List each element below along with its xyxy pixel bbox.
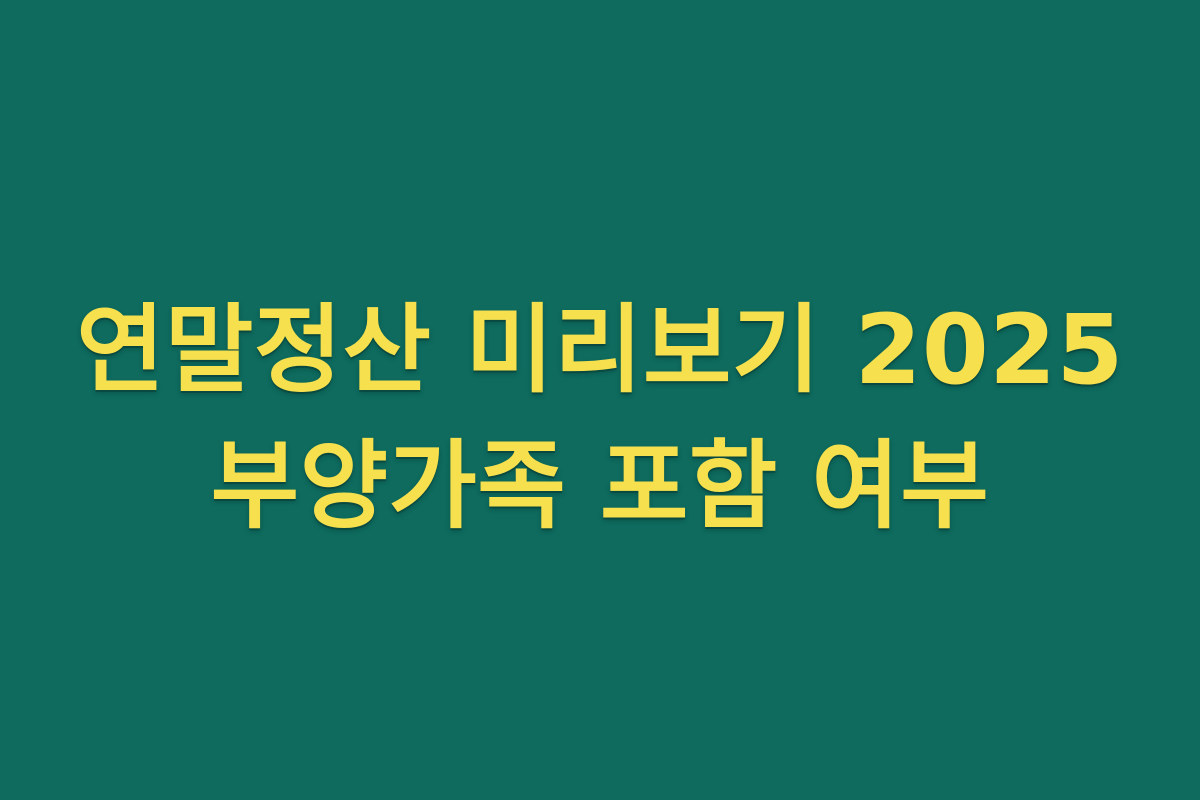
headline-block: 연말정산 미리보기 2025 부양가족 포함 여부 xyxy=(0,282,1200,555)
headline-line-2: 부양가족 포함 여부 xyxy=(0,418,1200,554)
headline-line-1: 연말정산 미리보기 2025 xyxy=(0,282,1200,418)
thumbnail-canvas: 연말정산 미리보기 2025 부양가족 포함 여부 xyxy=(0,0,1200,800)
